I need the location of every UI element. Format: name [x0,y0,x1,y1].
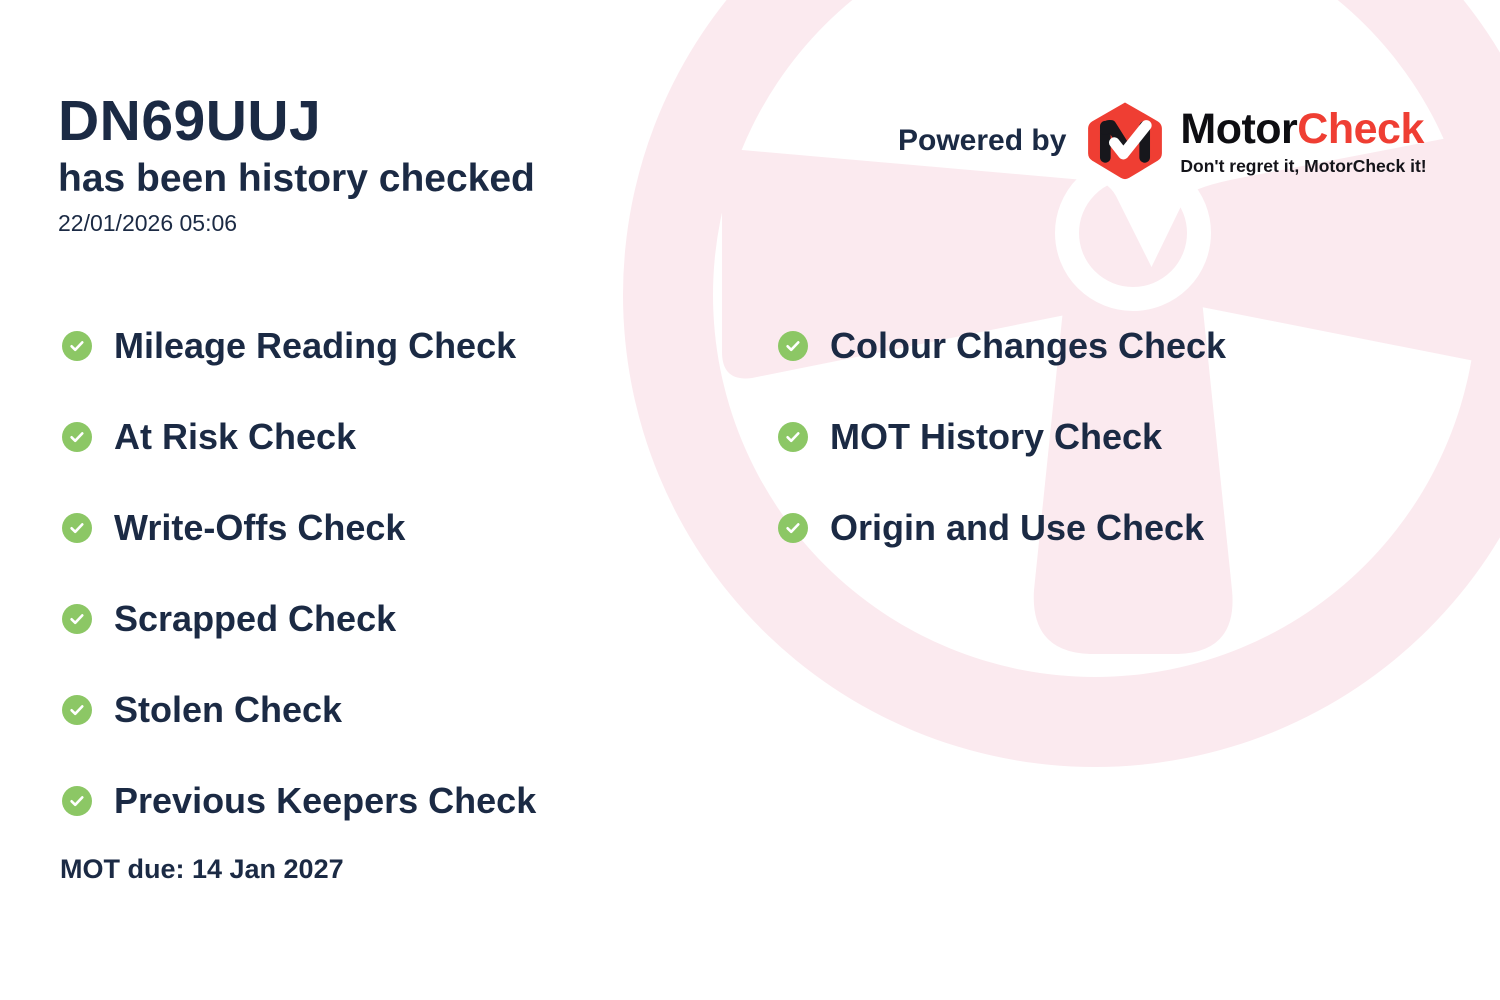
motorcheck-hexagon-icon [1084,100,1166,182]
registration-plate: DN69UUJ [58,92,535,152]
check-item: Origin and Use Check [778,482,1226,573]
check-label: Previous Keepers Check [114,783,536,819]
headline-block: DN69UUJ has been history checked 22/01/2… [58,92,535,237]
check-label: Origin and Use Check [830,510,1204,546]
check-label: Colour Changes Check [830,328,1226,364]
check-pass-icon [62,513,92,543]
check-item: At Risk Check [62,391,536,482]
mot-due-text: MOT due: 14 Jan 2027 [60,854,344,885]
check-label: Mileage Reading Check [114,328,516,364]
motorcheck-wordmark: MotorCheck Don't regret it, MotorCheck i… [1180,108,1426,176]
check-timestamp: 22/01/2026 05:06 [58,210,535,237]
check-pass-icon [62,695,92,725]
check-label: MOT History Check [830,419,1162,455]
check-item: Scrapped Check [62,573,536,664]
page-title: has been history checked [58,156,535,202]
check-label: Stolen Check [114,692,342,728]
wordmark-check: Check [1297,105,1424,153]
check-label: At Risk Check [114,419,356,455]
check-label: Scrapped Check [114,601,396,637]
check-pass-icon [62,331,92,361]
check-pass-icon [778,422,808,452]
powered-by-label: Powered by [898,124,1066,158]
history-check-banner: DN69UUJ has been history checked 22/01/2… [0,0,1500,1000]
check-pass-icon [62,786,92,816]
check-item: Stolen Check [62,664,536,755]
brand-tagline: Don't regret it, MotorCheck it! [1180,158,1426,176]
checks-list-left: Mileage Reading Check At Risk Check Writ… [62,300,536,846]
check-pass-icon [778,331,808,361]
powered-by-row: Powered by MotorCheck Don't regret it, M… [898,100,1427,182]
check-pass-icon [778,513,808,543]
check-item: Write-Offs Check [62,482,536,573]
check-item: Previous Keepers Check [62,755,536,846]
check-item: Mileage Reading Check [62,300,536,391]
check-pass-icon [62,604,92,634]
wordmark-text: MotorCheck [1180,108,1426,151]
checks-list-right: Colour Changes Check MOT History Check O… [778,300,1226,573]
wordmark-motor: Motor [1180,105,1297,153]
motorcheck-logo[interactable]: MotorCheck Don't regret it, MotorCheck i… [1084,100,1426,182]
check-item: MOT History Check [778,391,1226,482]
check-item: Colour Changes Check [778,300,1226,391]
check-pass-icon [62,422,92,452]
check-label: Write-Offs Check [114,510,405,546]
